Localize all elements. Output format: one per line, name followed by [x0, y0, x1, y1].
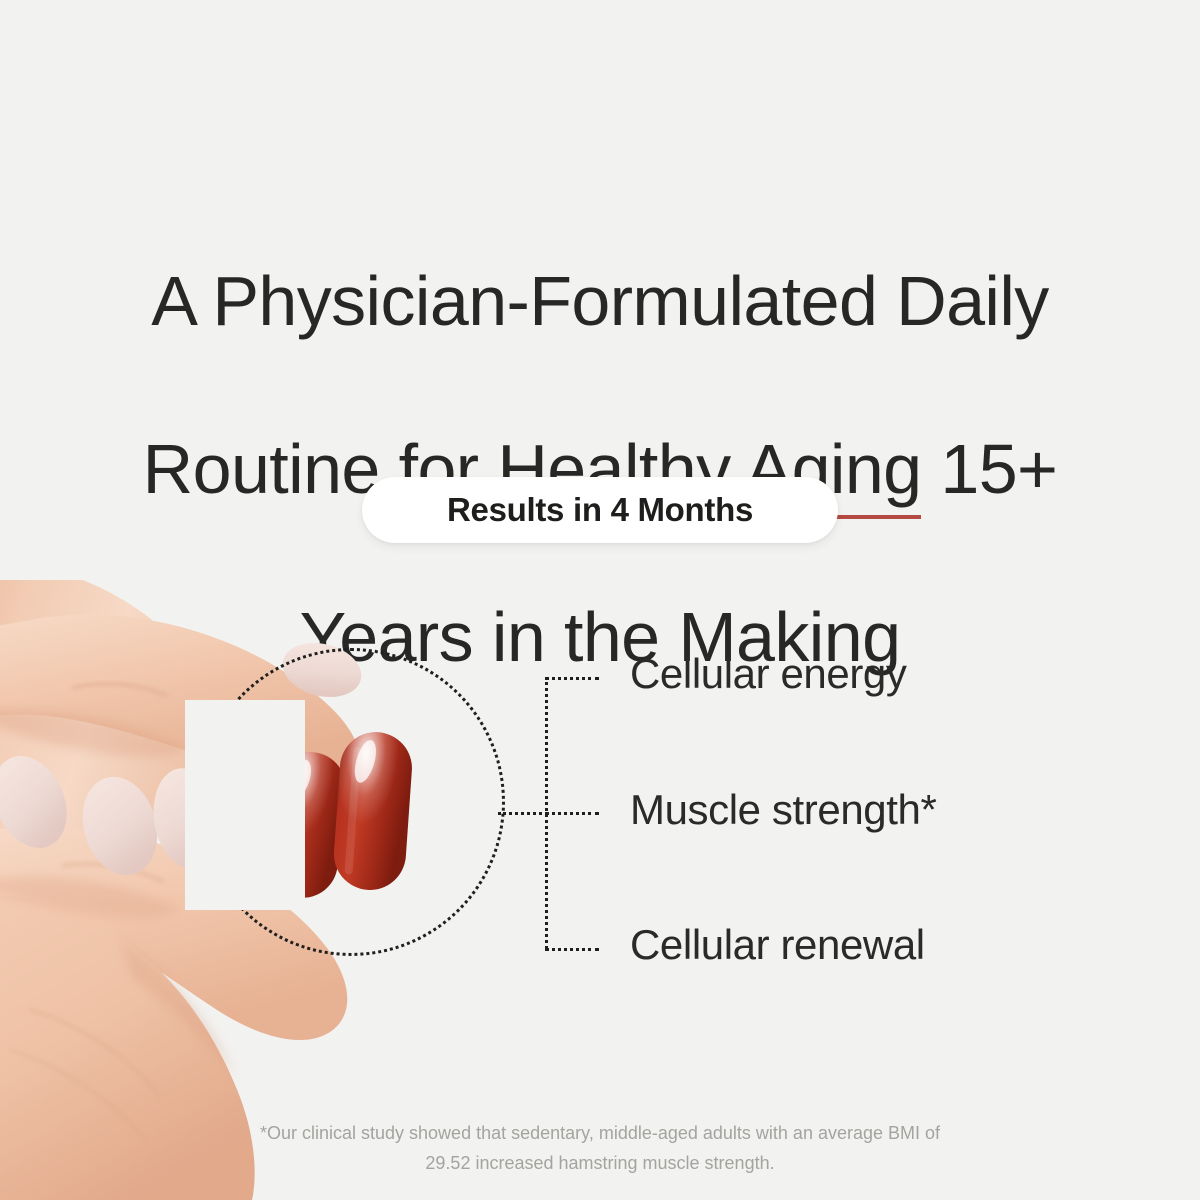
- connector-benefit-3: [545, 948, 599, 951]
- benefit-label-cellular-renewal: Cellular renewal: [630, 921, 925, 969]
- benefit-label-cellular-energy: Cellular energy: [630, 650, 906, 698]
- results-badge: Results in 4 Months: [362, 477, 838, 543]
- benefit-label-muscle-strength: Muscle strength*: [630, 786, 936, 834]
- promo-canvas: A Physician-Formulated Daily Routine for…: [0, 0, 1200, 1200]
- circle-occluder: [185, 700, 305, 910]
- connector-lead-in: [498, 812, 548, 815]
- connector-benefit-2: [545, 812, 599, 815]
- connector-benefit-1: [545, 677, 599, 680]
- headline-line-1: A Physician-Formulated Daily: [0, 259, 1200, 343]
- results-badge-label: Results in 4 Months: [447, 491, 753, 529]
- headline-line-2-suffix: 15+: [922, 430, 1058, 508]
- clinical-study-footnote: *Our clinical study showed that sedentar…: [250, 1118, 950, 1178]
